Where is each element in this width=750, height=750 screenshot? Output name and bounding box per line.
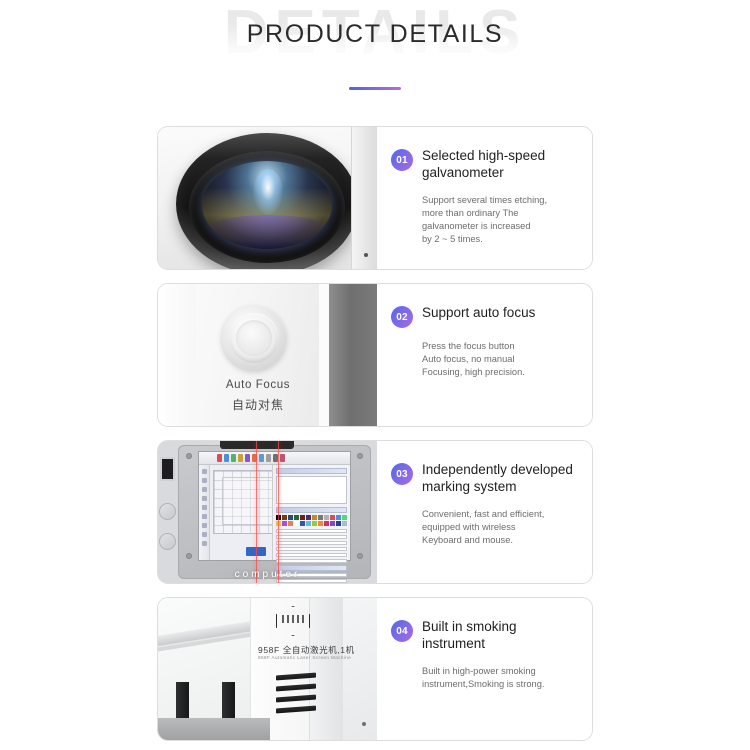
feature-desc-02: Press the focus button Auto focus, no ma… (422, 340, 576, 380)
side-knob-upper (159, 503, 176, 520)
software-properties-panel (272, 465, 350, 560)
feature-desc-01-line-2: more than ordinary The (422, 207, 576, 220)
feature-card-04[interactable]: 958F 全自动激光机,1机 958F Automatic Laser Scre… (157, 597, 593, 741)
feature-desc-04-line-1: Built in high-power smoking (422, 665, 576, 678)
ventilation-slots (276, 674, 316, 718)
feature-desc-02-line-1: Press the focus button (422, 340, 576, 353)
software-screen (198, 451, 351, 561)
feature-desc-03-line-1: Convenient, fast and efficient, (422, 508, 576, 521)
lens-rim-glow-shape (198, 215, 338, 255)
feature-desc-01-line-1: Support several times etching, (422, 194, 576, 207)
panel-left-edge (158, 284, 196, 426)
galvanometer-lens-photo (158, 127, 377, 269)
computer-caption: computer (158, 569, 377, 580)
feature-card-02-heading: 02 Support auto focus (391, 304, 576, 328)
monitor-top-bar (220, 441, 294, 449)
feature-card-03-body: 03 Independently developed marking syste… (377, 441, 592, 583)
feature-card-02[interactable]: Auto Focus 自动对焦 02 Support auto focus Pr… (157, 283, 593, 427)
feature-card-01-heading: 01 Selected high-speed galvanometer (391, 147, 576, 182)
work-bench-surface (158, 718, 270, 740)
feature-desc-03-line-3: Keyboard and mouse. (422, 534, 576, 547)
focus-button-cap (236, 320, 272, 356)
panel-section-header (276, 507, 347, 513)
feature-card-02-body: 02 Support auto focus Press the focus bu… (377, 284, 592, 426)
feature-card-04-body: 04 Built in smoking instrument Built in … (377, 598, 592, 740)
feature-desc-04: Built in high-power smoking instrument,S… (422, 665, 576, 691)
machine-model-label-en: 958F Automatic Laser Screen Machine (258, 655, 351, 660)
marking-software-screen-photo: computer (158, 441, 377, 583)
page-header: DETAILS PRODUCT DETAILS (0, 0, 750, 118)
panel-object-list (276, 476, 347, 504)
page-title: PRODUCT DETAILS (0, 20, 750, 49)
title-underline-accent (349, 87, 401, 90)
feature-card-01[interactable]: 01 Selected high-speed galvanometer Supp… (157, 126, 593, 270)
bezel-screw-icon (186, 553, 192, 559)
feature-desc-02-line-3: Focusing, high precision. (422, 366, 576, 379)
side-knob-lower (159, 533, 176, 550)
feature-card-04-heading: 04 Built in smoking instrument (391, 618, 576, 653)
auto-focus-label-cn: 自动对焦 (210, 396, 306, 413)
bench-leg (222, 682, 235, 718)
brand-logo-mark-icon (282, 615, 304, 623)
machine-cabinet-photo: 958F 全自动激光机,1机 958F Automatic Laser Scre… (158, 598, 377, 740)
feature-title-01: Selected high-speed galvanometer (422, 147, 576, 182)
feature-title-02: Support auto focus (422, 304, 535, 321)
panel-indicator-dot (362, 722, 366, 726)
feature-desc-03-line-2: equipped with wireless (422, 521, 576, 534)
machine-panel-edge (351, 127, 377, 269)
auto-focus-button-photo: Auto Focus 自动对焦 (158, 284, 377, 426)
product-details-page: DETAILS PRODUCT DETAILS 01 Selected high… (0, 0, 750, 750)
step-badge-01: 01 (391, 149, 413, 171)
feature-card-list: 01 Selected high-speed galvanometer Supp… (157, 126, 593, 750)
bezel-screw-icon (357, 453, 363, 459)
feature-card-01-body: 01 Selected high-speed galvanometer Supp… (377, 127, 592, 269)
panel-section-header (276, 468, 347, 474)
bezel-screw-icon (357, 553, 363, 559)
side-port-connector (160, 457, 175, 481)
feature-desc-02-line-2: Auto focus, no manual (422, 353, 576, 366)
software-toolbar (199, 452, 350, 465)
lens-flare-shape (253, 169, 283, 215)
laser-beam-line (278, 441, 279, 583)
panel-dark-strip (329, 284, 377, 426)
feature-desc-01-line-3: galvanometer is increased (422, 220, 576, 233)
screw-dot-icon (364, 253, 368, 257)
bezel-screw-icon (186, 453, 192, 459)
feature-title-04: Built in smoking instrument (422, 618, 576, 653)
step-badge-04: 04 (391, 620, 413, 642)
auto-focus-label-en: Auto Focus (210, 379, 306, 391)
panel-white-gap (319, 284, 329, 426)
feature-desc-01-line-4: by 2 ~ 5 times. (422, 233, 576, 246)
feature-desc-03: Convenient, fast and efficient, equipped… (422, 508, 576, 548)
feature-desc-04-line-2: instrument,Smoking is strong. (422, 678, 576, 691)
software-tool-palette (199, 465, 210, 560)
cabinet-side-panel (309, 598, 343, 740)
feature-title-03: Independently developed marking system (422, 461, 576, 496)
feature-desc-01: Support several times etching, more than… (422, 194, 576, 247)
step-badge-03: 03 (391, 463, 413, 485)
bench-leg (176, 682, 189, 718)
software-toolbar-icons (217, 454, 285, 462)
laser-beam-line (256, 441, 257, 583)
feature-card-03[interactable]: computer 03 Independently developed mark… (157, 440, 593, 584)
step-badge-02: 02 (391, 306, 413, 328)
panel-parameter-rows (276, 529, 347, 563)
feature-card-03-heading: 03 Independently developed marking syste… (391, 461, 576, 496)
color-swatch-palette (276, 515, 347, 526)
